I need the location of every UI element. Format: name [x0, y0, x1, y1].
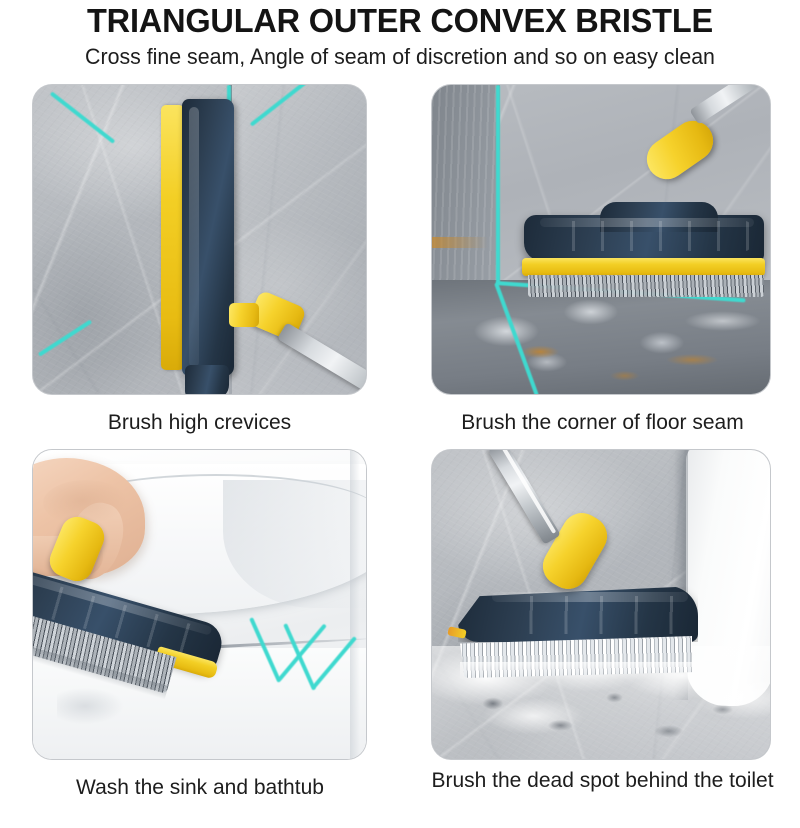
panel-2-caption: Brush the corner of floor seam: [420, 410, 785, 436]
panel-wash-sink-bathtub: [33, 450, 366, 759]
squeegee-head-tail: [185, 365, 229, 394]
squeegee-head-highlight: [189, 107, 199, 367]
brush-yellow-blade: [522, 258, 765, 276]
panel-3-caption: Wash the sink and bathtub: [20, 775, 380, 801]
product-infographic: TRIANGULAR OUTER CONVEX BRISTLE Cross fi…: [0, 0, 800, 828]
scene-floor-corner-seam: [432, 85, 770, 394]
page-subtitle: Cross fine seam, Angle of seam of discre…: [12, 43, 788, 70]
scene-toilet-base-floor: [432, 450, 770, 759]
squeegee-yellow-blade: [161, 105, 184, 370]
brush-assembly: [518, 197, 770, 315]
bristle-wet-shine: [460, 662, 692, 680]
brush-head-gloss: [540, 218, 754, 227]
panel-1-caption: Brush high crevices: [33, 410, 366, 436]
panel-4-caption: Brush the dead spot behind the toilet: [420, 768, 785, 794]
brush-bristle-row: [528, 275, 764, 297]
page-title: TRIANGULAR OUTER CONVEX BRISTLE: [6, 2, 794, 40]
panel-brush-dead-spot-toilet: [432, 450, 770, 759]
right-wall-edge: [350, 450, 360, 759]
panel-brush-corner-floor-seam: [432, 85, 770, 394]
scene-wall-tile-seam: [33, 85, 366, 394]
scene-white-sink: [33, 450, 366, 759]
rust-stain-wall: [432, 237, 488, 248]
collar-neck: [229, 303, 259, 327]
panel-brush-high-crevices: [33, 85, 366, 394]
wall-left-streaks: [432, 85, 500, 300]
brush-head-gloss: [492, 592, 688, 602]
guide-seam-vertical: [496, 85, 500, 285]
